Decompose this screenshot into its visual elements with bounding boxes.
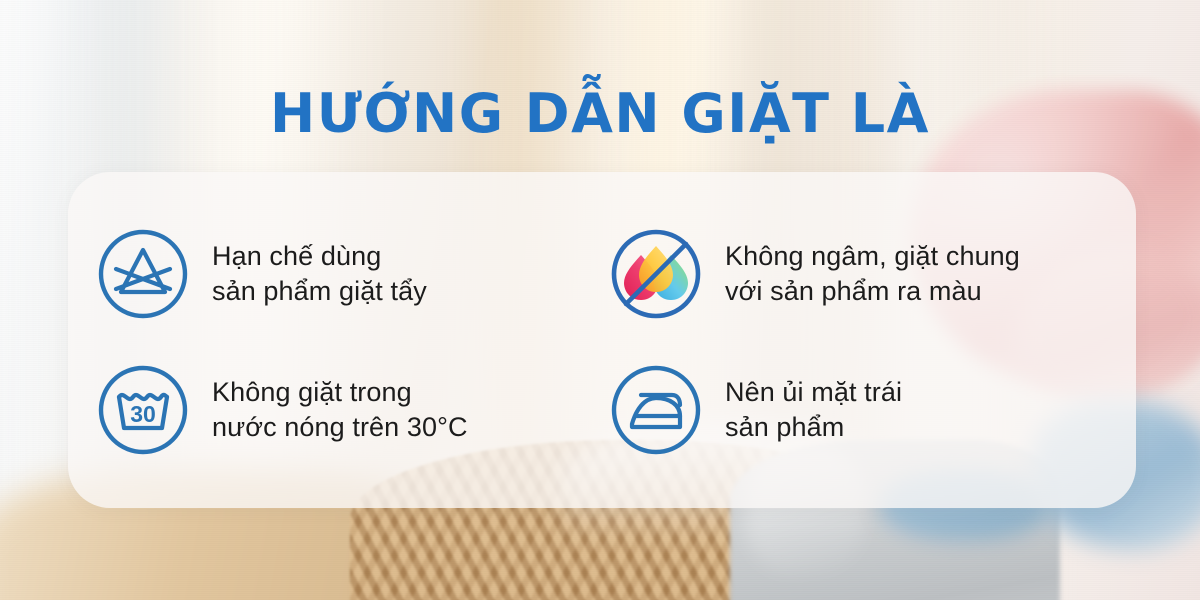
laundry-care-infographic: HƯỚNG DẪN GIẶT LÀ Hạn chế dùng sản phẩm … [0, 0, 1200, 600]
instruction-item-wash-temperature: 30 Không giặt trong nước nóng trên 30°C [82, 342, 595, 478]
wash-temperature-value: 30 [130, 401, 156, 427]
instruction-text: Không giặt trong nước nóng trên 30°C [212, 375, 468, 445]
no-color-droplets-icon [609, 227, 703, 321]
instructions-grid: Hạn chế dùng sản phẩm giặt tẩy [68, 172, 1136, 508]
instruction-item-no-soak: Không ngâm, giặt chung với sản phẩm ra m… [595, 206, 1108, 342]
instruction-text: Nên ủi mặt trái sản phẩm [725, 375, 902, 445]
instruction-text: Hạn chế dùng sản phẩm giặt tẩy [212, 239, 427, 309]
wash-tub-30-icon: 30 [96, 363, 190, 457]
no-bleach-triangle-icon [96, 227, 190, 321]
instruction-item-iron: Nên ủi mặt trái sản phẩm [595, 342, 1108, 478]
iron-icon [609, 363, 703, 457]
instructions-panel: Hạn chế dùng sản phẩm giặt tẩy [68, 172, 1136, 508]
instruction-item-no-bleach: Hạn chế dùng sản phẩm giặt tẩy [82, 206, 595, 342]
instruction-text: Không ngâm, giặt chung với sản phẩm ra m… [725, 239, 1020, 309]
page-title: HƯỚNG DẪN GIẶT LÀ [0, 86, 1200, 143]
